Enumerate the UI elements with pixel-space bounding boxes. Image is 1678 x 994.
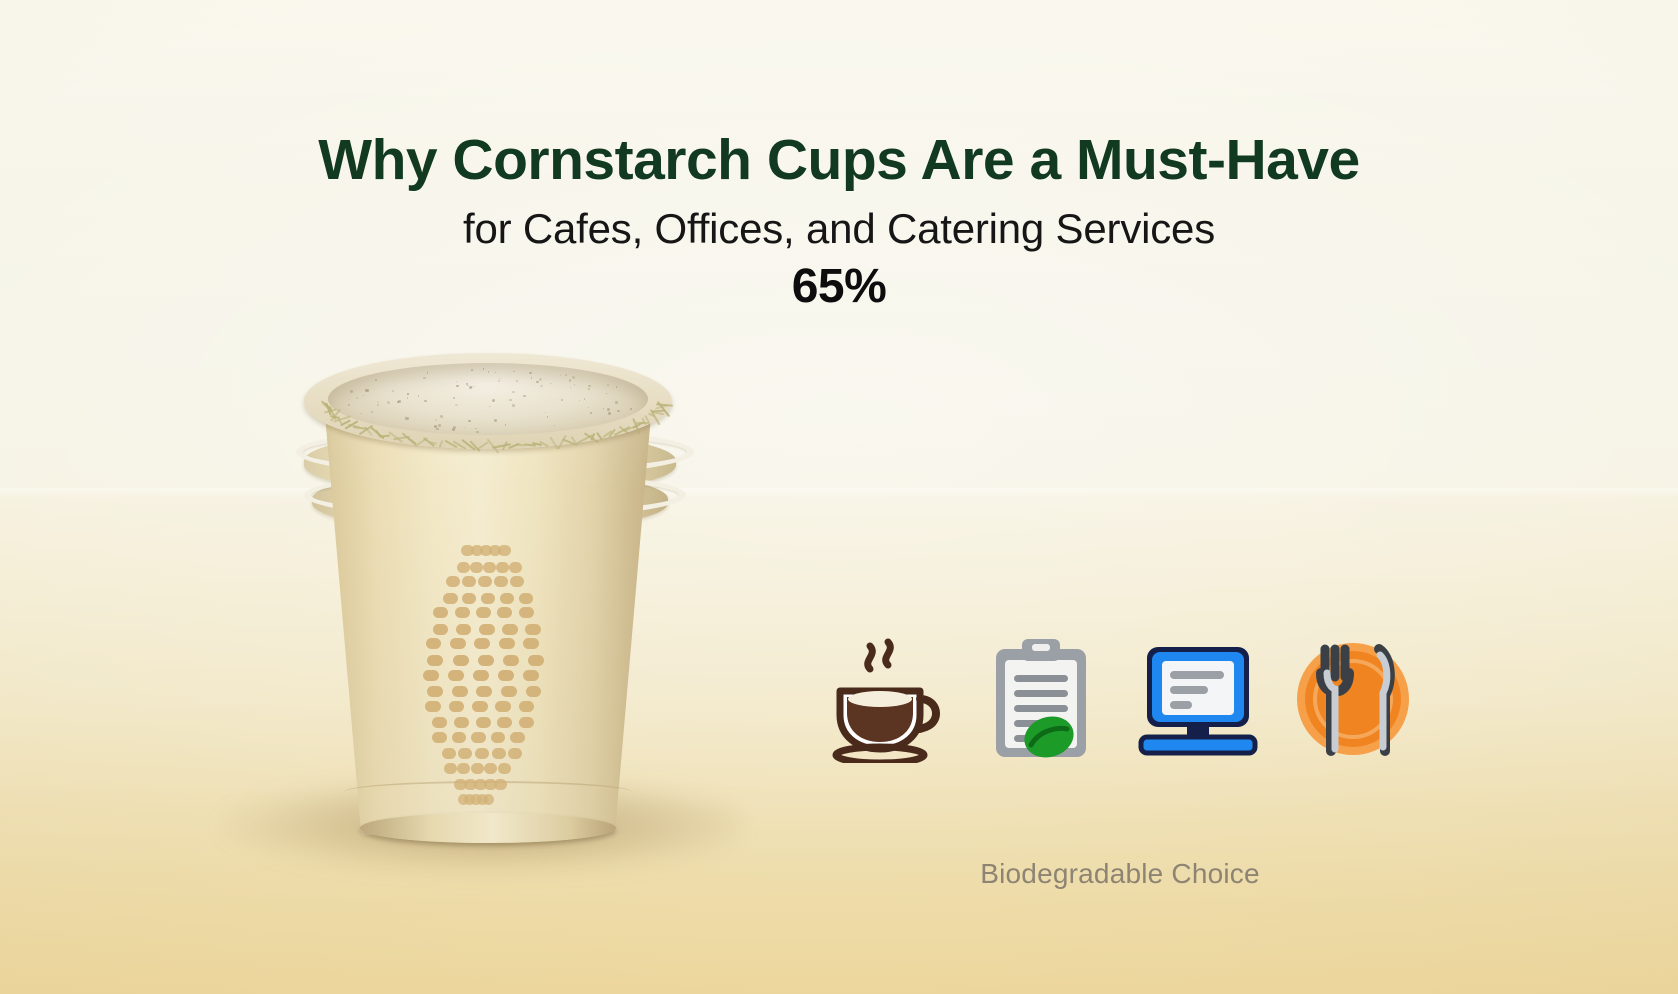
rim-speck (467, 385, 468, 386)
rim-speck (607, 408, 610, 411)
corn-kernel (491, 732, 506, 743)
rim-speck (405, 417, 408, 420)
corn-kernel (519, 701, 535, 712)
corn-kernel (526, 686, 542, 697)
corn-kernel (476, 717, 491, 728)
clipboard-check-icon (986, 633, 1098, 763)
corn-kernel (455, 607, 470, 618)
corn-kernel (425, 701, 441, 712)
corn-kernel (449, 701, 465, 712)
corn-kernel (498, 763, 511, 774)
corn-kernel (501, 686, 517, 697)
rim-speck (523, 395, 525, 397)
rim-speck (588, 388, 590, 390)
corn-kernel (471, 763, 484, 774)
corn-kernel (457, 562, 470, 573)
rim-speck (377, 401, 379, 403)
corn-kernel (475, 748, 489, 759)
icon-cell-catering-services (1288, 628, 1418, 768)
corn-kernel (476, 607, 491, 618)
rim-speck (516, 380, 518, 382)
corn-cob-motif (418, 545, 544, 805)
page-subtitle: for Cafes, Offices, and Catering Service… (0, 204, 1678, 254)
cup-rim-inner (328, 363, 648, 435)
plate-fork-knife-icon (1291, 633, 1415, 763)
icon-cell-offices (1133, 628, 1263, 768)
corn-kernel (456, 624, 471, 635)
corn-kernel (494, 576, 508, 587)
corn-kernel (433, 607, 448, 618)
corn-kernel (452, 732, 467, 743)
rim-speck (476, 431, 478, 433)
corn-kernel (432, 732, 447, 743)
corn-kernel (498, 545, 510, 556)
rim-speck (608, 412, 611, 415)
corn-kernel (423, 670, 439, 681)
corn-kernel (458, 748, 472, 759)
stat-value: 65% (0, 259, 1678, 314)
corn-kernel (462, 576, 476, 587)
corn-kernel (462, 593, 476, 604)
corn-kernel (495, 701, 511, 712)
cornstarch-cup-image (282, 345, 694, 890)
corn-kernel (496, 562, 509, 573)
corn-kernel (426, 638, 442, 649)
corn-kernel (473, 670, 489, 681)
corn-kernel (481, 593, 495, 604)
icon-cell-catering-checklist (977, 628, 1107, 768)
corn-kernel (483, 562, 496, 573)
rim-speck (397, 401, 399, 403)
corn-kernel (470, 562, 483, 573)
corn-kernel (450, 638, 466, 649)
corn-kernel (497, 717, 512, 728)
rim-speck (423, 377, 426, 380)
corn-kernel (497, 607, 512, 618)
rim-speck (574, 384, 575, 385)
corn-kernel (433, 624, 448, 635)
corn-kernel (483, 794, 494, 805)
rim-speck (512, 404, 515, 407)
corn-kernel (484, 763, 497, 774)
rim-speck (572, 376, 575, 379)
corn-kernel (432, 717, 447, 728)
use-case-icon-row (822, 628, 1418, 768)
corn-kernel (472, 701, 488, 712)
rim-speck (512, 391, 515, 394)
corn-kernel (479, 624, 494, 635)
corn-kernel (519, 607, 534, 618)
rim-speck (475, 428, 476, 429)
corn-kernel (478, 576, 492, 587)
caption-biodegradable-choice: Biodegradable Choice (822, 858, 1418, 890)
corn-kernel (444, 763, 457, 774)
corn-kernel (510, 576, 524, 587)
rim-speck (489, 406, 490, 407)
rim-speck (453, 397, 455, 399)
rim-speck (371, 411, 373, 413)
corn-kernel (508, 748, 522, 759)
rim-speck (590, 412, 592, 414)
poster-canvas: Why Cornstarch Cups Are a Must-Have for … (0, 0, 1678, 994)
rim-speck (377, 404, 379, 406)
corn-kernel (525, 624, 540, 635)
rim-speck (438, 424, 441, 427)
background-horizon-line (0, 488, 1678, 498)
rim-speck (529, 372, 531, 374)
corn-kernel (448, 670, 464, 681)
corn-kernel (457, 763, 470, 774)
rim-speck (407, 393, 408, 394)
corn-kernel (519, 717, 534, 728)
rim-speck (616, 386, 618, 388)
coffee-cup-icon (828, 633, 946, 763)
corn-kernel (492, 748, 506, 759)
corn-kernel (523, 670, 539, 681)
corn-kernel (476, 686, 492, 697)
rim-speck (615, 401, 618, 404)
corn-kernel (498, 670, 514, 681)
rim-speck (588, 407, 589, 408)
rim-speck (505, 424, 506, 425)
corn-kernel (453, 655, 469, 666)
cup-base (360, 813, 616, 843)
corn-kernel (427, 655, 443, 666)
corn-kernel (474, 638, 490, 649)
corn-kernel (478, 655, 494, 666)
corn-kernel (471, 732, 486, 743)
page-title: Why Cornstarch Cups Are a Must-Have (0, 130, 1678, 192)
corn-kernel (494, 779, 506, 790)
corn-kernel (442, 748, 456, 759)
rim-speck (424, 400, 427, 403)
corn-kernel (523, 638, 539, 649)
corn-kernel (454, 717, 469, 728)
rim-speck (387, 401, 390, 404)
laptop-icon (1135, 633, 1261, 763)
rim-speck (427, 372, 428, 373)
heading-block: Why Cornstarch Cups Are a Must-Have for … (0, 130, 1678, 314)
rim-speck (363, 395, 364, 396)
corn-kernel (510, 732, 525, 743)
corn-kernel (500, 593, 514, 604)
corn-kernel (443, 593, 457, 604)
rim-speck (617, 410, 620, 413)
corn-kernel (452, 686, 468, 697)
icon-cell-cafes (822, 628, 952, 768)
rim-speck (588, 385, 590, 387)
rim-speck (405, 416, 406, 417)
rim-speck (365, 389, 368, 392)
rim-speck (630, 408, 632, 410)
corn-kernel (519, 593, 533, 604)
corn-kernel (528, 655, 544, 666)
corn-kernel (427, 686, 443, 697)
corn-kernel (502, 624, 517, 635)
corn-kernel (499, 638, 515, 649)
corn-kernel (509, 562, 522, 573)
corn-kernel (446, 576, 460, 587)
rim-speck (499, 378, 500, 379)
rim-speck (498, 380, 500, 382)
corn-kernel (503, 655, 519, 666)
